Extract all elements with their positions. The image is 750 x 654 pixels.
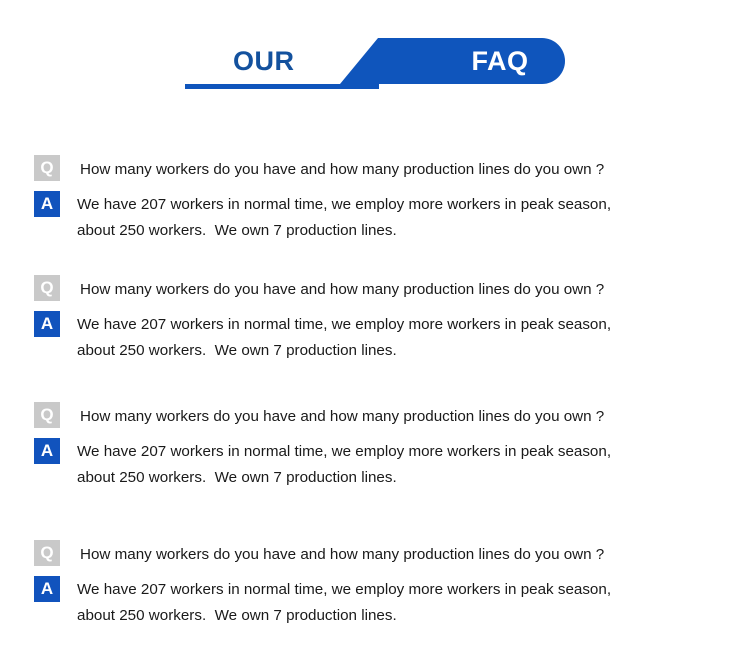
faq-item: Q How many workers do you have and how m… [34,540,734,628]
faq-answer-line-1: We have 207 workers in normal time, we e… [34,576,734,602]
banner-tab-label: FAQ [440,44,560,78]
banner-underline [185,84,379,89]
faq-answer-line-1: We have 207 workers in normal time, we e… [34,191,734,217]
faq-item: Q How many workers do you have and how m… [34,275,734,363]
answer-badge: A [34,576,60,602]
answer-badge: A [34,438,60,464]
faq-question-text: How many workers do you have and how man… [34,540,734,567]
question-badge: Q [34,402,60,428]
faq-answer-line-2: about 250 workers. We own 7 production l… [34,217,734,243]
faq-question-text: How many workers do you have and how man… [34,275,734,302]
faq-question-row: Q How many workers do you have and how m… [34,540,734,567]
faq-answer-line-1: We have 207 workers in normal time, we e… [34,438,734,464]
question-badge: Q [34,275,60,301]
faq-answer-row: A We have 207 workers in normal time, we… [34,576,734,628]
faq-question-text: How many workers do you have and how man… [34,402,734,429]
faq-question-row: Q How many workers do you have and how m… [34,275,734,302]
question-badge: Q [34,540,60,566]
faq-answer-line-1: We have 207 workers in normal time, we e… [34,311,734,337]
faq-item: Q How many workers do you have and how m… [34,155,734,243]
faq-answer-row: A We have 207 workers in normal time, we… [34,191,734,243]
banner-prefix-label: OUR [233,44,295,78]
faq-question-text: How many workers do you have and how man… [34,155,734,182]
question-badge: Q [34,155,60,181]
faq-item: Q How many workers do you have and how m… [34,402,734,490]
banner-inner: OUR FAQ [185,38,565,90]
faq-answer-line-2: about 250 workers. We own 7 production l… [34,464,734,490]
faq-answer-row: A We have 207 workers in normal time, we… [34,438,734,490]
faq-question-row: Q How many workers do you have and how m… [34,402,734,429]
faq-answer-line-2: about 250 workers. We own 7 production l… [34,602,734,628]
answer-badge: A [34,191,60,217]
faq-answer-line-2: about 250 workers. We own 7 production l… [34,337,734,363]
faq-banner: OUR FAQ [0,0,750,120]
faq-question-row: Q How many workers do you have and how m… [34,155,734,182]
faq-answer-row: A We have 207 workers in normal time, we… [34,311,734,363]
answer-badge: A [34,311,60,337]
